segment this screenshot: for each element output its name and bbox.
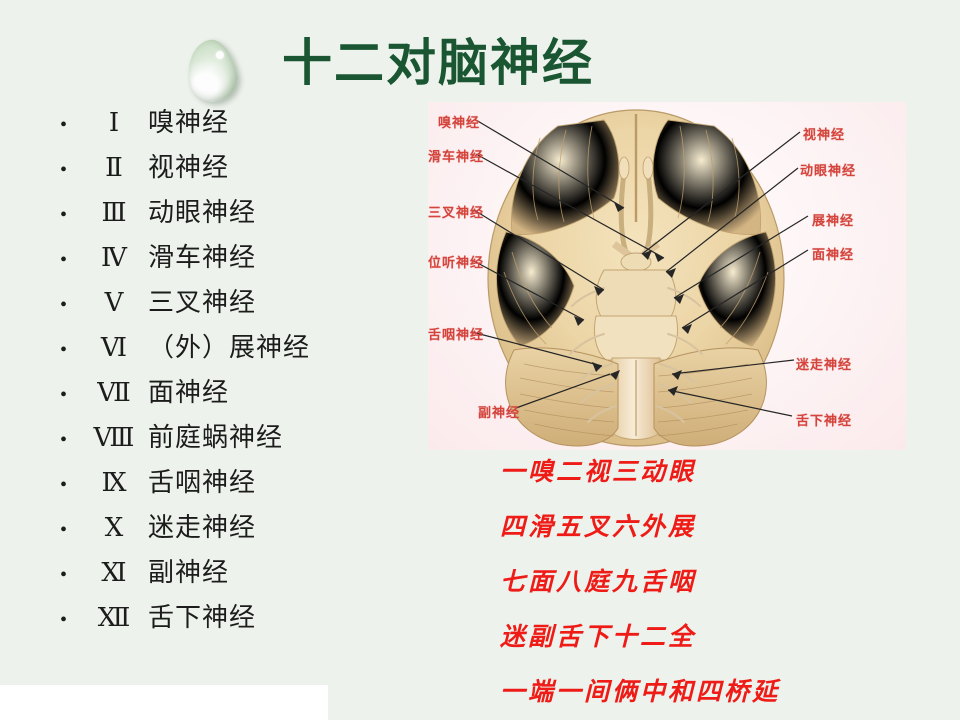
figure-label-vestibulocochlear-nerve: 位听神经	[428, 252, 484, 271]
bullet-icon: •	[60, 373, 86, 418]
figure-label-trochlear-nerve: 滑车神经	[428, 146, 484, 165]
page-title: 十二对脑神经	[282, 32, 594, 94]
list-item: • Ⅷ 前庭蜗神经	[60, 415, 430, 460]
nerve-name: 滑车神经	[142, 236, 256, 281]
mnemonic-line: 七面八庭九舌咽	[500, 554, 940, 609]
figure-label-oculomotor-nerve: 动眼神经	[800, 160, 856, 179]
list-item: • Ⅴ 三叉神经	[60, 280, 430, 325]
list-item: • Ⅵ （外）展神经	[60, 325, 430, 370]
nerve-name: （外）展神经	[142, 326, 310, 371]
list-item: • Ⅸ 舌咽神经	[60, 460, 430, 505]
bullet-icon: •	[60, 598, 86, 643]
bullet-icon: •	[60, 193, 86, 238]
nerve-numeral: Ⅷ	[86, 415, 142, 460]
figure-label-accessory-nerve: 副神经	[478, 402, 520, 421]
bullet-icon: •	[60, 238, 86, 283]
nerve-name: 动眼神经	[142, 191, 256, 236]
figure-label-vagus-nerve: 迷走神经	[796, 354, 852, 373]
water-drop-icon	[182, 36, 242, 107]
mnemonic-line: 一端一间俩中和四桥延	[500, 664, 940, 719]
list-item: • Ⅳ 滑车神经	[60, 235, 430, 280]
figure-label-optic-nerve: 视神经	[803, 124, 845, 143]
figure-label-olfactory-nerve: 嗅神经	[438, 112, 480, 131]
nerve-name: 视神经	[142, 146, 229, 191]
title-area: 十二对脑神经	[0, 14, 960, 100]
nerve-numeral: Ⅹ	[86, 505, 142, 550]
nerve-name: 舌咽神经	[142, 461, 256, 506]
list-item: • Ⅱ 视神经	[60, 145, 430, 190]
cranial-nerve-list: • Ⅰ 嗅神经 • Ⅱ 视神经 • Ⅲ 动眼神经 • Ⅳ 滑车神经 • Ⅴ 三叉…	[60, 100, 430, 640]
brain-anatomy-figure: 嗅神经 滑车神经 三叉神经 位听神经 舌咽神经 副神经 视神经 动眼神经 展神经…	[428, 102, 906, 450]
list-item: • Ⅺ 副神经	[60, 550, 430, 595]
nerve-name: 面神经	[142, 371, 229, 416]
figure-label-trigeminal-nerve: 三叉神经	[428, 202, 484, 221]
nerve-numeral: Ⅲ	[86, 190, 142, 235]
nerve-numeral: Ⅴ	[86, 280, 142, 325]
bullet-icon: •	[60, 103, 86, 148]
nerve-name: 副神经	[142, 551, 229, 596]
nerve-name: 嗅神经	[142, 101, 229, 146]
list-item: • Ⅹ 迷走神经	[60, 505, 430, 550]
bullet-icon: •	[60, 283, 86, 328]
nerve-numeral: Ⅱ	[86, 145, 142, 190]
nerve-name: 舌下神经	[142, 596, 256, 641]
figure-label-abducens-nerve: 展神经	[812, 210, 854, 229]
list-item: • Ⅰ 嗅神经	[60, 100, 430, 145]
list-item: • Ⅲ 动眼神经	[60, 190, 430, 235]
slide-canvas: 十二对脑神经 • Ⅰ 嗅神经 • Ⅱ 视神经 • Ⅲ 动眼神经 • Ⅳ 滑车神经…	[0, 0, 960, 720]
mnemonic-line: 一嗅二视三动眼	[500, 444, 940, 499]
nerve-numeral: Ⅳ	[86, 235, 142, 280]
mnemonic-line: 迷副舌下十二全	[500, 609, 940, 664]
nerve-numeral: Ⅺ	[86, 550, 142, 595]
footer-white-block	[0, 685, 328, 720]
mnemonic-verse-block: 一嗅二视三动眼 四滑五叉六外展 七面八庭九舌咽 迷副舌下十二全 一端一间俩中和四…	[500, 444, 940, 719]
nerve-numeral: Ⅸ	[86, 460, 142, 505]
list-item: • Ⅻ 舌下神经	[60, 595, 430, 640]
nerve-numeral: Ⅰ	[86, 100, 142, 145]
list-item: • Ⅶ 面神经	[60, 370, 430, 415]
nerve-numeral: Ⅻ	[86, 595, 142, 640]
figure-label-facial-nerve: 面神经	[812, 244, 854, 263]
bullet-icon: •	[60, 508, 86, 553]
mnemonic-line: 四滑五叉六外展	[500, 499, 940, 554]
nerve-numeral: Ⅵ	[86, 325, 142, 370]
bullet-icon: •	[60, 148, 86, 193]
bullet-icon: •	[60, 463, 86, 508]
bullet-icon: •	[60, 553, 86, 598]
brain-inferior-view-illustration	[428, 102, 906, 450]
figure-label-hypoglossal-nerve: 舌下神经	[796, 410, 852, 429]
nerve-name: 前庭蜗神经	[142, 416, 283, 461]
nerve-name: 迷走神经	[142, 506, 256, 551]
bullet-icon: •	[60, 328, 86, 373]
bullet-icon: •	[60, 418, 86, 463]
nerve-numeral: Ⅶ	[86, 370, 142, 415]
figure-label-glossopharyngeal-nerve: 舌咽神经	[428, 324, 484, 343]
nerve-name: 三叉神经	[142, 281, 256, 326]
